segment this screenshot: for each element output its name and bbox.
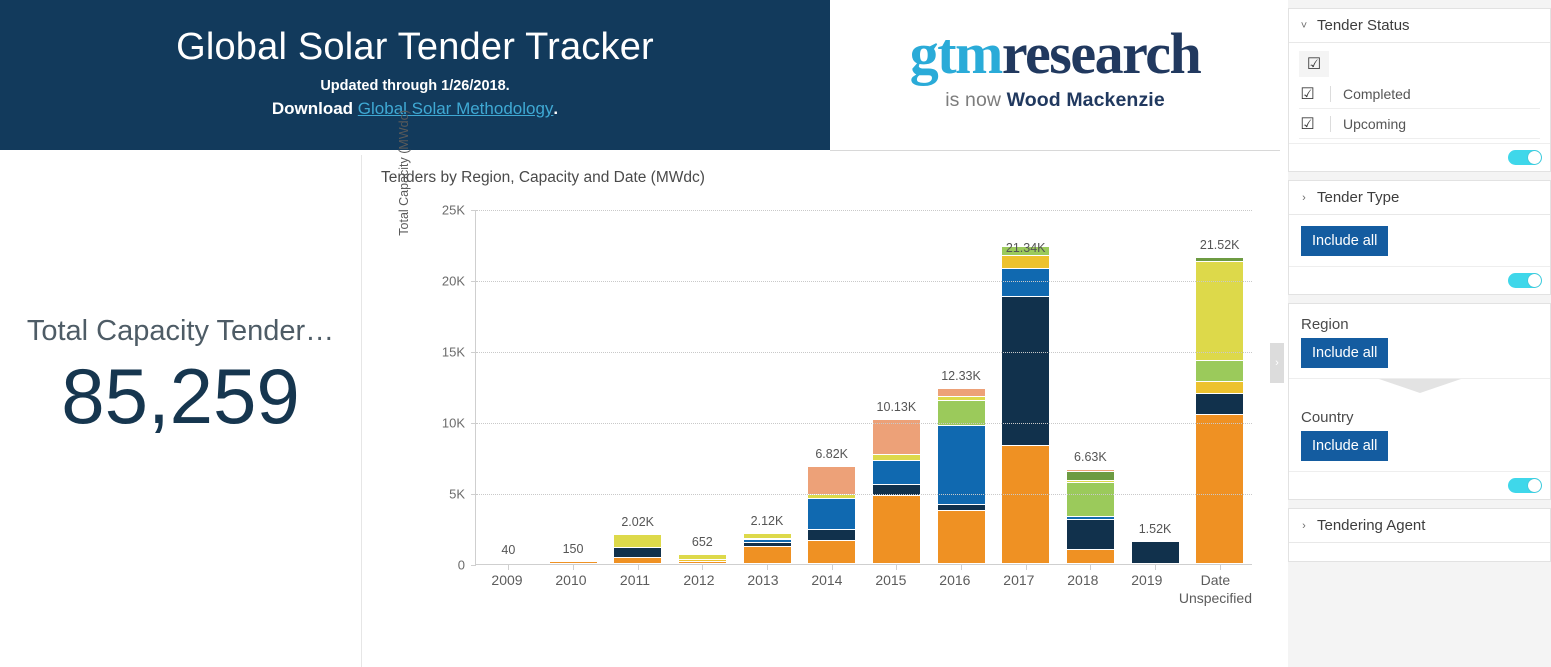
filter-body-country: Country Include all (1289, 397, 1550, 471)
x-tick-label: DateUnspecified (1179, 572, 1252, 607)
bar-group[interactable]: 2.12K (735, 210, 800, 564)
header-divider (830, 150, 1280, 151)
bar-segment[interactable] (550, 562, 597, 564)
y-tick-label: 10K (442, 416, 465, 431)
checkbox-row-completed[interactable]: ☑ Completed (1299, 79, 1540, 109)
y-tick-mark (471, 210, 476, 211)
bar-group[interactable]: 21.52K (1187, 210, 1252, 564)
page-title: Global Solar Tender Tracker (176, 28, 654, 68)
x-tick-label: 2009 (475, 572, 539, 607)
bar-segment[interactable] (1196, 262, 1243, 361)
bar-group[interactable]: 2.02K (605, 210, 670, 564)
y-tick-mark (471, 281, 476, 282)
x-tick-label: 2010 (539, 572, 603, 607)
filter-card-header-tender-status[interactable]: ˅ Tender Status (1289, 9, 1550, 43)
stacked-bar[interactable] (938, 389, 985, 564)
checkbox-row-all[interactable]: ☑ (1299, 49, 1540, 79)
stacked-bar[interactable] (1196, 258, 1243, 564)
filter-card-header-tender-type[interactable]: › Tender Type (1289, 181, 1550, 215)
x-tick-mark (1090, 565, 1094, 570)
y-tick-label: 5K (449, 487, 465, 502)
include-all-button-region[interactable]: Include all (1301, 338, 1388, 368)
x-tick-label: 2015 (859, 572, 923, 607)
x-tick-label: 2017 (987, 572, 1051, 607)
filter-card-header-tendering-agent[interactable]: › Tendering Agent (1289, 509, 1550, 543)
gridline (476, 210, 1252, 211)
bar-group[interactable]: 21.34K (993, 210, 1058, 564)
x-tick-mark (1155, 565, 1159, 570)
x-tick-label: 2012 (667, 572, 731, 607)
chevron-right-icon[interactable]: › (1299, 520, 1309, 532)
bar-segment[interactable] (873, 461, 920, 485)
x-tick-mark (1220, 565, 1224, 570)
bar-segment[interactable] (938, 401, 985, 426)
filter-footer-tender-type (1289, 266, 1550, 294)
filter-card-geography: Region Include all Country Include all (1288, 303, 1551, 500)
bar-segment[interactable] (485, 563, 532, 565)
logo-gtm-text: gtm (910, 21, 1002, 86)
y-tick-label: 0 (458, 558, 465, 573)
filter-card-tender-type: › Tender Type Include all (1288, 180, 1551, 295)
bar-group[interactable]: 40 (476, 210, 541, 564)
toggle-knob (1528, 479, 1541, 492)
x-tick-mark (767, 565, 771, 570)
bar-segment[interactable] (938, 389, 985, 397)
bar-segment[interactable] (1196, 361, 1243, 382)
x-tick-mark (832, 565, 836, 570)
x-tick-mark (508, 565, 512, 570)
filter-body-region: Region Include all (1289, 304, 1550, 378)
bar-segment[interactable] (938, 426, 985, 505)
bar-segment[interactable] (1067, 550, 1114, 564)
x-tick-label: 2018 (1051, 572, 1115, 607)
checkbox-completed-icon[interactable]: ☑ (1299, 85, 1316, 102)
x-tick-label: 2019 (1115, 572, 1179, 607)
bar-series-container: 401502.02K6522.12K6.82K10.13K12.33K21.34… (476, 210, 1252, 564)
gridline (476, 494, 1252, 495)
brand-logo: gtmresearch is now Wood Mackenzie (830, 0, 1280, 150)
y-tick-mark (471, 423, 476, 424)
stacked-bar[interactable] (744, 534, 791, 564)
updated-text: Updated through 1/26/2018. (272, 76, 558, 97)
bar-group[interactable]: 652 (670, 210, 735, 564)
x-axis-labels: 2009201020112012201320142015201620172018… (475, 572, 1252, 607)
x-tick-label: 2014 (795, 572, 859, 607)
x-tick-mark (638, 565, 642, 570)
bar-segment[interactable] (1196, 382, 1243, 393)
download-suffix: . (553, 99, 558, 118)
bar-segment[interactable] (1002, 256, 1049, 269)
chevron-right-icon[interactable]: › (1299, 192, 1309, 204)
bar-segment[interactable] (808, 467, 855, 495)
filter-footer-tender-status (1289, 143, 1550, 171)
stacked-bar[interactable] (808, 467, 855, 564)
x-tick-mark (573, 565, 577, 570)
bar-segment[interactable] (1067, 483, 1114, 517)
y-tick-label: 20K (442, 274, 465, 289)
x-tick-mark (702, 565, 706, 570)
x-tick-label: 2016 (923, 572, 987, 607)
toggle-knob (1528, 274, 1541, 287)
toggle-tender-status[interactable] (1508, 150, 1542, 165)
y-tick-mark (471, 494, 476, 495)
filter-title-tender-type: Tender Type (1317, 189, 1399, 206)
checkbox-label-completed: Completed (1343, 86, 1411, 102)
stacked-bar[interactable] (679, 555, 726, 564)
chart-title: Tenders by Region, Capacity and Date (MW… (381, 169, 705, 187)
bar-total-label: 21.52K (1170, 238, 1270, 252)
toggle-knob (1528, 151, 1541, 164)
plot-area: Total Capacity (MWdc) 05K10K15K20K25K 40… (363, 210, 1270, 610)
x-tick-label: 2013 (731, 572, 795, 607)
logo-research-text: research (1002, 21, 1200, 86)
gridline (476, 352, 1252, 353)
x-tick-mark (961, 565, 965, 570)
checkbox-upcoming-icon[interactable]: ☑ (1299, 115, 1316, 132)
filter-card-tendering-agent: › Tendering Agent (1288, 508, 1551, 562)
logo-wordmark: gtmresearch (910, 25, 1201, 83)
y-tick-label: 15K (442, 345, 465, 360)
bar-group[interactable]: 150 (541, 210, 606, 564)
bar-group[interactable]: 12.33K (929, 210, 994, 564)
filter-sidebar: ˅ Tender Status ☑ ☑ Completed ☑ Upcom (1288, 0, 1551, 667)
stacked-bar[interactable] (1002, 247, 1049, 564)
kpi-value: 85,259 (61, 356, 300, 438)
bar-segment[interactable] (808, 530, 855, 541)
bar-group[interactable]: 6.82K (799, 210, 864, 564)
bar-segment[interactable] (1196, 415, 1243, 564)
bar-segment[interactable] (1002, 269, 1049, 297)
logo-tagline: is now Wood Mackenzie (945, 89, 1165, 112)
header-banner: Global Solar Tender Tracker Updated thro… (0, 0, 830, 150)
gridline (476, 423, 1252, 424)
gridline (476, 281, 1252, 282)
dashboard-root: Global Solar Tender Tracker Updated thro… (0, 0, 1551, 667)
stacked-bar[interactable] (485, 563, 532, 565)
bar-segment[interactable] (873, 496, 920, 564)
y-tick-mark (471, 352, 476, 353)
include-all-button-country[interactable]: Include all (1301, 431, 1388, 461)
sidebar-collapse-handle[interactable]: › (1270, 343, 1284, 383)
header-subtext: Updated through 1/26/2018. Download Glob… (272, 76, 558, 122)
checkbox-row-upcoming[interactable]: ☑ Upcoming (1299, 109, 1540, 139)
bar-segment[interactable] (1132, 542, 1179, 564)
filter-body-tendering-agent (1289, 543, 1550, 561)
bar-group[interactable]: 6.63K (1058, 210, 1123, 564)
stacked-bar[interactable] (873, 420, 920, 564)
filter-body-tender-type: Include all (1289, 215, 1550, 266)
y-axis-label: Total Capacity (MWdc) (397, 110, 411, 310)
y-tick-mark (471, 565, 476, 566)
logo-tagline-brand: Wood Mackenzie (1007, 89, 1165, 111)
x-tick-mark (896, 565, 900, 570)
y-tick-label: 25K (442, 203, 465, 218)
filter-body-tender-status: ☑ ☑ Completed ☑ Upcoming (1289, 43, 1550, 143)
bar-segment[interactable] (614, 558, 661, 564)
bar-group[interactable]: 10.13K (864, 210, 929, 564)
hierarchy-arrow-icon (1289, 379, 1550, 397)
checkbox-all-wrap[interactable]: ☑ (1299, 51, 1329, 77)
plot-canvas: 401502.02K6522.12K6.82K10.13K12.33K21.34… (475, 210, 1252, 565)
checkbox-separator (1330, 116, 1331, 132)
filter-title-region: Region (1299, 310, 1540, 333)
bar-segment[interactable] (938, 511, 985, 564)
bar-group[interactable]: 1.52K (1123, 210, 1188, 564)
bar-segment[interactable] (808, 541, 855, 564)
include-all-button-tender-type[interactable]: Include all (1301, 226, 1388, 256)
sidebar-top-strip (1288, 0, 1551, 8)
bar-segment[interactable] (1067, 472, 1114, 481)
bar-segment[interactable] (1196, 394, 1243, 415)
chart-panel: Tenders by Region, Capacity and Date (MW… (363, 155, 1270, 667)
stacked-bar[interactable] (1067, 470, 1114, 564)
x-tick-label: 2011 (603, 572, 667, 607)
bar-segment[interactable] (873, 420, 920, 455)
filter-footer-geography (1289, 471, 1550, 499)
logo-tagline-prefix: is now (945, 89, 1006, 111)
kpi-label: Total Capacity Tender… (27, 315, 334, 348)
bar-segment[interactable] (614, 548, 661, 559)
checkbox-separator (1330, 86, 1331, 102)
filter-title-tender-status: Tender Status (1317, 17, 1410, 34)
kpi-card: Total Capacity Tender… 85,259 (0, 155, 362, 667)
bar-segment[interactable] (938, 505, 985, 512)
chevron-down-icon[interactable]: ˅ (1299, 20, 1309, 32)
stacked-bar[interactable] (550, 562, 597, 564)
bar-segment[interactable] (744, 547, 791, 564)
methodology-link[interactable]: Global Solar Methodology (358, 99, 554, 118)
download-prefix: Download (272, 99, 358, 118)
bar-segment[interactable] (679, 562, 726, 564)
filter-title-tendering-agent: Tendering Agent (1317, 517, 1425, 534)
toggle-tender-type[interactable] (1508, 273, 1542, 288)
x-tick-mark (1026, 565, 1030, 570)
toggle-geography[interactable] (1508, 478, 1542, 493)
checkbox-all-icon[interactable]: ☑ (1306, 56, 1323, 73)
bar-segment[interactable] (808, 499, 855, 530)
filter-card-tender-status: ˅ Tender Status ☑ ☑ Completed ☑ Upcom (1288, 8, 1551, 172)
y-axis-ticks: 05K10K15K20K25K (423, 210, 465, 565)
download-line: Download Global Solar Methodology. (272, 97, 558, 122)
filter-title-country: Country (1299, 403, 1540, 426)
stacked-bar[interactable] (1132, 542, 1179, 564)
checkbox-label-upcoming: Upcoming (1343, 116, 1406, 132)
